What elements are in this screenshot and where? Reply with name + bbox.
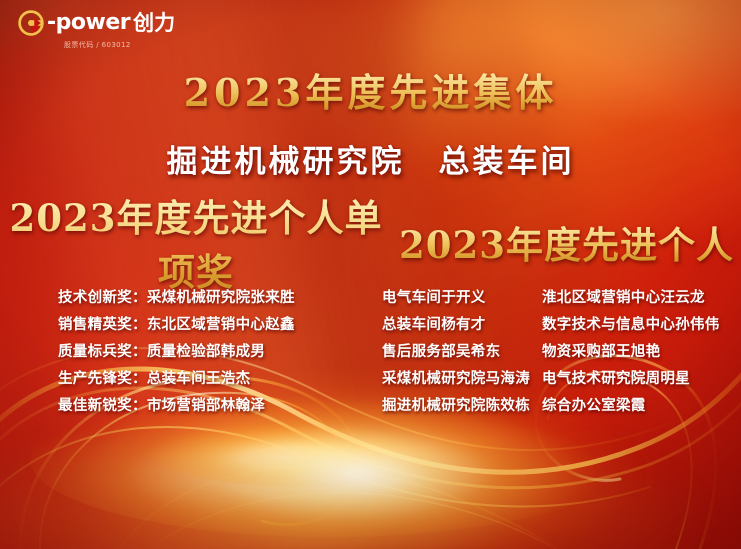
logo-row: -power 创力	[18, 10, 175, 36]
award-name: 销售精英奖	[58, 313, 132, 334]
list-item: 电气车间于开义 淮北区域营销中心汪云龙	[382, 283, 741, 310]
page-title: 2023年度先进集体	[0, 62, 741, 117]
award-recipient: 采煤机械研究院张来胜	[147, 286, 295, 307]
recipient-second: 淮北区域营销中心汪云龙	[542, 286, 705, 307]
list-item: 总装车间杨有才 数字技术与信息中心孙伟伟	[382, 310, 741, 337]
award-poster: -power 创力 股票代码 / 603012 2023年度先进集体 掘进机械研…	[0, 0, 741, 549]
recipient-second: 综合办公室梁霞	[542, 394, 646, 415]
award-lists: 技术创新奖：采煤机械研究院张来胜 销售精英奖：东北区域营销中心赵鑫 质量标兵奖：…	[0, 283, 741, 418]
recipient-first: 总装车间杨有才	[382, 313, 542, 334]
award-separator: ：	[132, 313, 147, 334]
heading-special-awards: 2023年度先进个人单项奖	[0, 188, 392, 296]
list-item: 采煤机械研究院马海涛 电气技术研究院周明星	[382, 364, 741, 391]
heading-individual-awards: 2023年度先进个人	[392, 215, 741, 269]
award-name: 最佳新锐奖	[58, 394, 132, 415]
g-power-logo-icon	[18, 10, 44, 36]
logo-stock-code: 股票代码 / 603012	[64, 40, 131, 50]
award-recipient: 市场营销部林翰泽	[147, 394, 265, 415]
award-separator: ：	[132, 286, 147, 307]
section-headings: 2023年度先进个人单项奖 2023年度先进个人	[0, 214, 741, 270]
list-item: 生产先锋奖：总装车间王浩杰	[58, 364, 360, 391]
recipient-second: 数字技术与信息中心孙伟伟	[542, 313, 720, 334]
list-item: 质量标兵奖：质量检验部韩成男	[58, 337, 360, 364]
award-recipient: 东北区域营销中心赵鑫	[147, 313, 295, 334]
award-name: 技术创新奖	[58, 286, 132, 307]
recipient-first: 售后服务部吴希东	[382, 340, 542, 361]
list-item: 技术创新奖：采煤机械研究院张来胜	[58, 283, 360, 310]
company-logo[interactable]: -power 创力 股票代码 / 603012	[18, 10, 175, 50]
special-awards-column: 技术创新奖：采煤机械研究院张来胜 销售精英奖：东北区域营销中心赵鑫 质量标兵奖：…	[0, 283, 360, 418]
recipient-first: 掘进机械研究院陈效栋	[382, 394, 542, 415]
award-name: 质量标兵奖	[58, 340, 132, 361]
award-separator: ：	[132, 340, 147, 361]
award-separator: ：	[132, 367, 147, 388]
award-name: 生产先锋奖	[58, 367, 132, 388]
award-recipient: 质量检验部韩成男	[147, 340, 265, 361]
logo-wordmark-cn: 创力	[133, 13, 175, 34]
logo-wordmark: -power	[47, 12, 130, 34]
individual-awards-column: 电气车间于开义 淮北区域营销中心汪云龙 总装车间杨有才 数字技术与信息中心孙伟伟…	[360, 283, 741, 418]
recipient-first: 电气车间于开义	[382, 286, 542, 307]
recipient-second: 电气技术研究院周明星	[542, 367, 690, 388]
list-item: 掘进机械研究院陈效栋 综合办公室梁霞	[382, 391, 741, 418]
list-item: 销售精英奖：东北区域营销中心赵鑫	[58, 310, 360, 337]
recipient-first: 采煤机械研究院马海涛	[382, 367, 542, 388]
list-item: 最佳新锐奖：市场营销部林翰泽	[58, 391, 360, 418]
list-item: 售后服务部吴希东 物资采购部王旭艳	[382, 337, 741, 364]
award-separator: ：	[132, 394, 147, 415]
recipient-second: 物资采购部王旭艳	[542, 340, 660, 361]
award-recipient: 总装车间王浩杰	[147, 367, 251, 388]
page-subtitle: 掘进机械研究院 总装车间	[0, 136, 741, 181]
